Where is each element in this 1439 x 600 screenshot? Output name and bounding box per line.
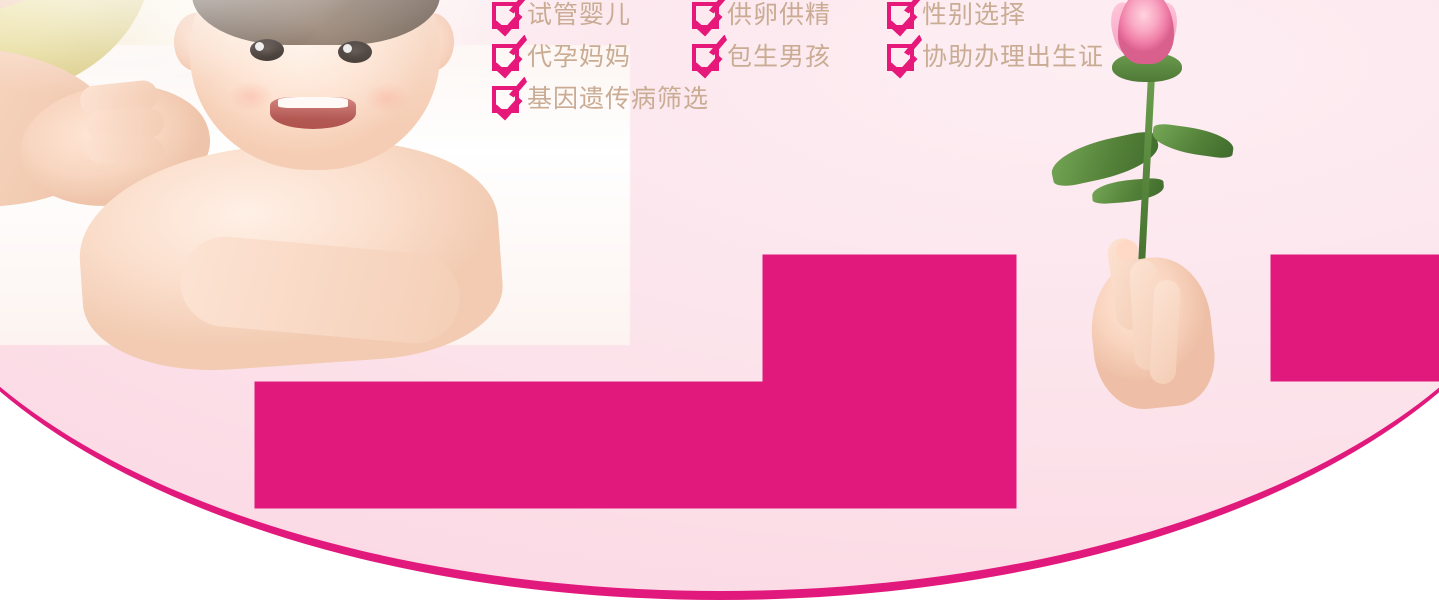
checkbox-checked-icon bbox=[492, 86, 519, 113]
checkbox-checked-icon bbox=[492, 2, 519, 29]
service-item: 包生男孩 bbox=[692, 42, 887, 72]
rose-leaf bbox=[1091, 178, 1164, 205]
service-label: 代孕妈妈 bbox=[527, 42, 631, 72]
service-item: 基因遗传病筛选 bbox=[492, 84, 692, 114]
service-row: 试管婴儿 供卵供精 性别选择 bbox=[492, 0, 1212, 30]
service-row: 基因遗传病筛选 bbox=[492, 84, 1212, 114]
service-label: 协助办理出生证 bbox=[922, 42, 1104, 72]
copy-block: 男孩 性别逖 生男孩 bbox=[492, 0, 1192, 170]
service-item: 试管婴儿 bbox=[492, 0, 692, 30]
hand-finger bbox=[1149, 279, 1180, 384]
service-item: 供卵供精 bbox=[692, 0, 887, 30]
service-item: 代孕妈妈 bbox=[492, 42, 692, 72]
checkbox-checked-icon bbox=[692, 2, 719, 29]
checkbox-checked-icon bbox=[492, 44, 519, 71]
service-label: 基因遗传病筛选 bbox=[527, 84, 709, 114]
service-item: 性别选择 bbox=[887, 0, 1026, 30]
service-label: 供卵供精 bbox=[727, 0, 831, 30]
checkbox-checked-icon bbox=[887, 2, 914, 29]
checkbox-checked-icon bbox=[692, 44, 719, 71]
banner-stage: 男孩 性别逖 生男孩 bbox=[0, 0, 1439, 600]
service-row: 代孕妈妈 包生男孩 协助办理出生证 bbox=[492, 42, 1212, 72]
service-label: 试管婴儿 bbox=[527, 0, 631, 30]
service-label: 包生男孩 bbox=[727, 42, 831, 72]
service-label: 性别选择 bbox=[922, 0, 1026, 30]
service-item: 协助办理出生证 bbox=[887, 42, 1104, 72]
service-list: 试管婴儿 供卵供精 性别选择 bbox=[492, 0, 1212, 126]
promo-banner: 男孩 性别逖 生男孩 bbox=[0, 0, 1439, 600]
checkbox-checked-icon bbox=[887, 44, 914, 71]
